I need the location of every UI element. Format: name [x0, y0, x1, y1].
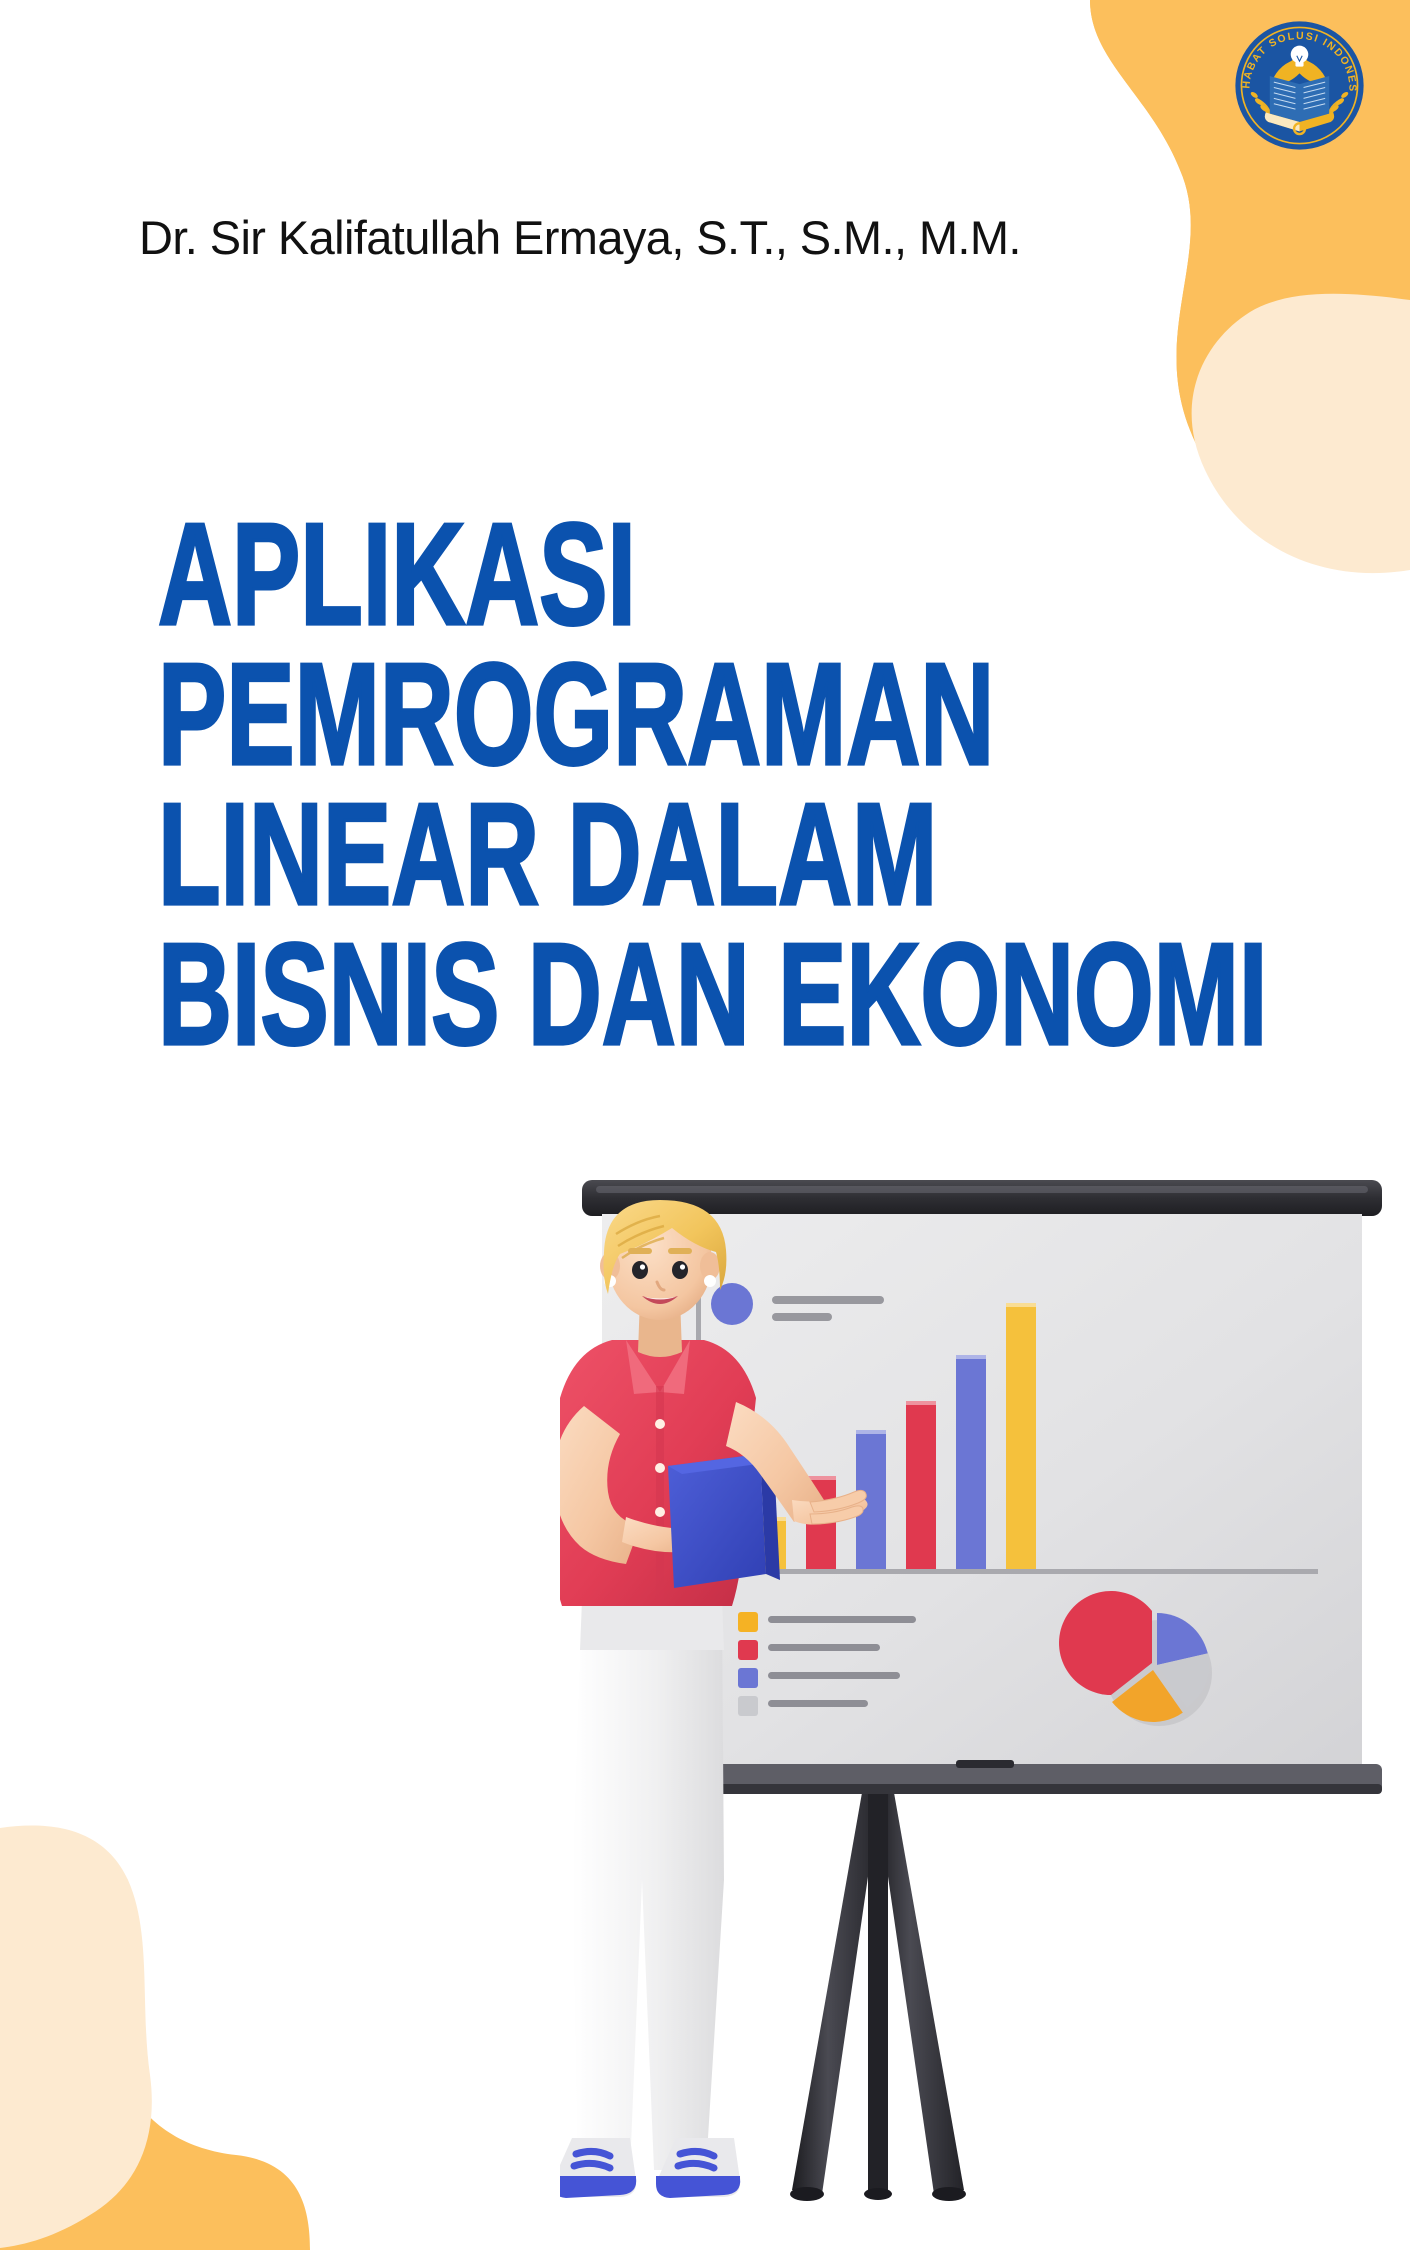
board-top-bar-highlight [596, 1186, 1368, 1193]
presenter-with-flipchart-illustration [560, 1180, 1410, 2250]
bar-6 [1006, 1303, 1036, 1569]
legend-line-3 [768, 1672, 900, 1679]
tripod-foot-center [864, 2188, 892, 2200]
tripod-foot-right [932, 2187, 966, 2201]
presenter-eye-right [672, 1261, 688, 1279]
bottom-left-orange-blob [0, 1925, 310, 2250]
presenter-trousers [572, 1610, 724, 2170]
presenter-shoe-left [560, 2138, 636, 2198]
bar-chart-legend-line-2 [772, 1313, 832, 1321]
title-line-2: PEMROGRAMAN [158, 652, 1102, 779]
legend-swatch-1 [738, 1612, 758, 1632]
bar-4 [906, 1401, 936, 1569]
book-cover: SAHABAT SOLUSI INDONESIA [0, 0, 1410, 2250]
legend-swatch-2 [738, 1640, 758, 1660]
presenter-trousers-waist [580, 1600, 724, 1650]
bar-chart-legend-dot [711, 1283, 753, 1325]
tripod-leg-center [868, 1770, 888, 2194]
book-title: APLIKASI PEMROGRAMAN LINEAR DALAM BISNIS… [158, 512, 1338, 1072]
presenter-placket [656, 1386, 664, 1600]
publisher-logo: SAHABAT SOLUSI INDONESIA [1232, 18, 1367, 153]
legend-line-2 [768, 1644, 880, 1651]
bottom-left-cream-blob [0, 1826, 152, 2248]
title-line-1: APLIKASI [158, 512, 1102, 639]
legend-swatch-4 [738, 1696, 758, 1716]
legend-line-4 [768, 1700, 868, 1707]
title-line-3: LINEAR DALAM [158, 792, 1102, 919]
board-bottom-bar-clip [956, 1760, 1014, 1768]
title-line-4: BISNIS DAN EKONOMI [158, 932, 1102, 1059]
bar-chart-x-axis [696, 1569, 1318, 1574]
author-name: Dr. Sir Kalifatullah Ermaya, S.T., S.M.,… [139, 210, 1021, 265]
presenter-eye-left [632, 1261, 648, 1279]
tripod-foot-left [790, 2187, 824, 2201]
bar-chart-legend-line-1 [772, 1296, 884, 1304]
legend-swatch-3 [738, 1668, 758, 1688]
legend-line-1 [768, 1616, 916, 1623]
bar-5 [956, 1355, 986, 1569]
presenter-earring-right [704, 1275, 716, 1287]
